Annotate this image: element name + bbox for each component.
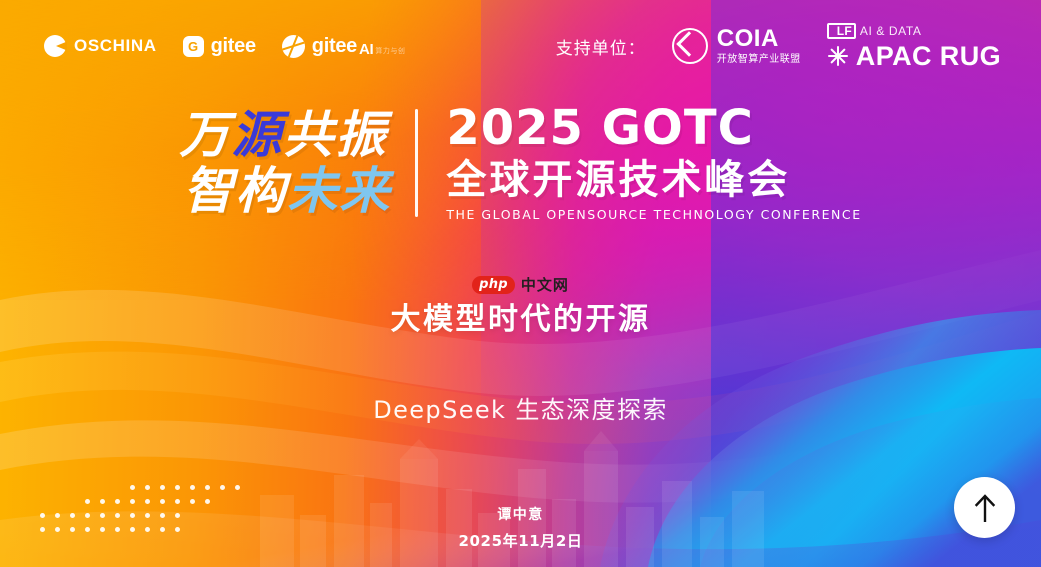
speaker-date: 2025年11月2日 <box>0 530 1041 551</box>
gitee-logo-label: gitee <box>211 35 256 58</box>
brand-logo-group: OSCHINA G gitee gitee AI 算力与创 <box>44 35 405 58</box>
oschina-logo-label: OSCHINA <box>74 36 157 56</box>
lf-badge: LF <box>827 23 856 39</box>
gitee-ai-logo-sub: 算力与创 <box>375 46 405 56</box>
gitee-logo-icon: G <box>183 36 204 57</box>
gotc-english-title: THE GLOBAL OPENSOURCE TECHNOLOGY CONFERE… <box>446 209 861 222</box>
hero-inner: 万源共振 智构未来 2025 GOTC 全球开源技术峰会 THE GLOBAL … <box>179 104 861 222</box>
gotc-title-group: 2025 GOTC 全球开源技术峰会 THE GLOBAL OPENSOURCE… <box>446 104 861 222</box>
back-to-top-button[interactable] <box>954 477 1015 538</box>
apac-rug-title: APAC RUG <box>856 43 1001 70</box>
coia-logo[interactable]: COIA 开放智算产业联盟 <box>672 27 801 65</box>
hero-title-block: 万源共振 智构未来 2025 GOTC 全球开源技术峰会 THE GLOBAL … <box>0 104 1041 222</box>
gitee-ai-logo-icon <box>282 35 305 58</box>
coia-logo-title: COIA <box>717 27 801 51</box>
lf-ai-data-line: LF AI & DATA <box>827 23 1001 39</box>
header-bar: OSCHINA G gitee gitee AI 算力与创 支持单位： C <box>0 0 1041 92</box>
oschina-logo-icon <box>44 35 66 57</box>
gitee-ai-logo[interactable]: gitee AI 算力与创 <box>282 35 406 58</box>
support-partners-group: 支持单位： COIA 开放智算产业联盟 LF AI & DATA <box>556 23 1001 70</box>
slogan-seg-3: 共振 <box>283 106 387 164</box>
arrow-up-icon <box>972 493 998 523</box>
session-title: 大模型时代的开源 <box>0 294 1041 338</box>
gotc-chinese-title: 全球开源技术峰会 <box>446 160 790 200</box>
apac-rug-logo[interactable]: LF AI & DATA APAC RUG <box>827 23 1001 70</box>
coia-logo-icon <box>672 28 708 64</box>
coia-logo-text: COIA 开放智算产业联盟 <box>717 27 801 65</box>
slogan-seg-5: 未来 <box>287 162 391 220</box>
apac-rug-line: APAC RUG <box>827 43 1001 70</box>
hero-divider <box>415 109 418 217</box>
gotc-year-title: 2025 GOTC <box>446 104 753 152</box>
slide-canvas: OSCHINA G gitee gitee AI 算力与创 支持单位： C <box>0 0 1041 567</box>
speaker-name: 谭中意 <box>0 504 1041 524</box>
oschina-logo[interactable]: OSCHINA <box>44 35 157 57</box>
gitee-ai-logo-text: gitee AI 算力与创 <box>312 35 406 58</box>
conference-slogan: 万源共振 智构未来 <box>179 110 387 216</box>
gitee-ai-logo-suffix: AI <box>359 41 373 58</box>
gitee-ai-logo-label: gitee <box>312 35 357 58</box>
gitee-logo[interactable]: G gitee <box>183 35 256 58</box>
speaker-block: 谭中意 2025年11月2日 <box>0 504 1041 551</box>
slogan-seg-1: 万 <box>179 106 231 164</box>
apac-rug-snowflake-icon <box>827 45 849 67</box>
session-subtitle: DeepSeek 生态深度探索 <box>0 390 1041 425</box>
support-label: 支持单位： <box>556 34 646 59</box>
slogan-line-2: 智构未来 <box>183 166 391 216</box>
slogan-seg-2: 源 <box>231 106 283 164</box>
coia-logo-subtitle: 开放智算产业联盟 <box>717 55 801 65</box>
lf-ai-data-label: AI & DATA <box>860 25 922 37</box>
slogan-seg-4: 智构 <box>183 162 287 220</box>
slogan-line-1: 万源共振 <box>179 110 387 160</box>
